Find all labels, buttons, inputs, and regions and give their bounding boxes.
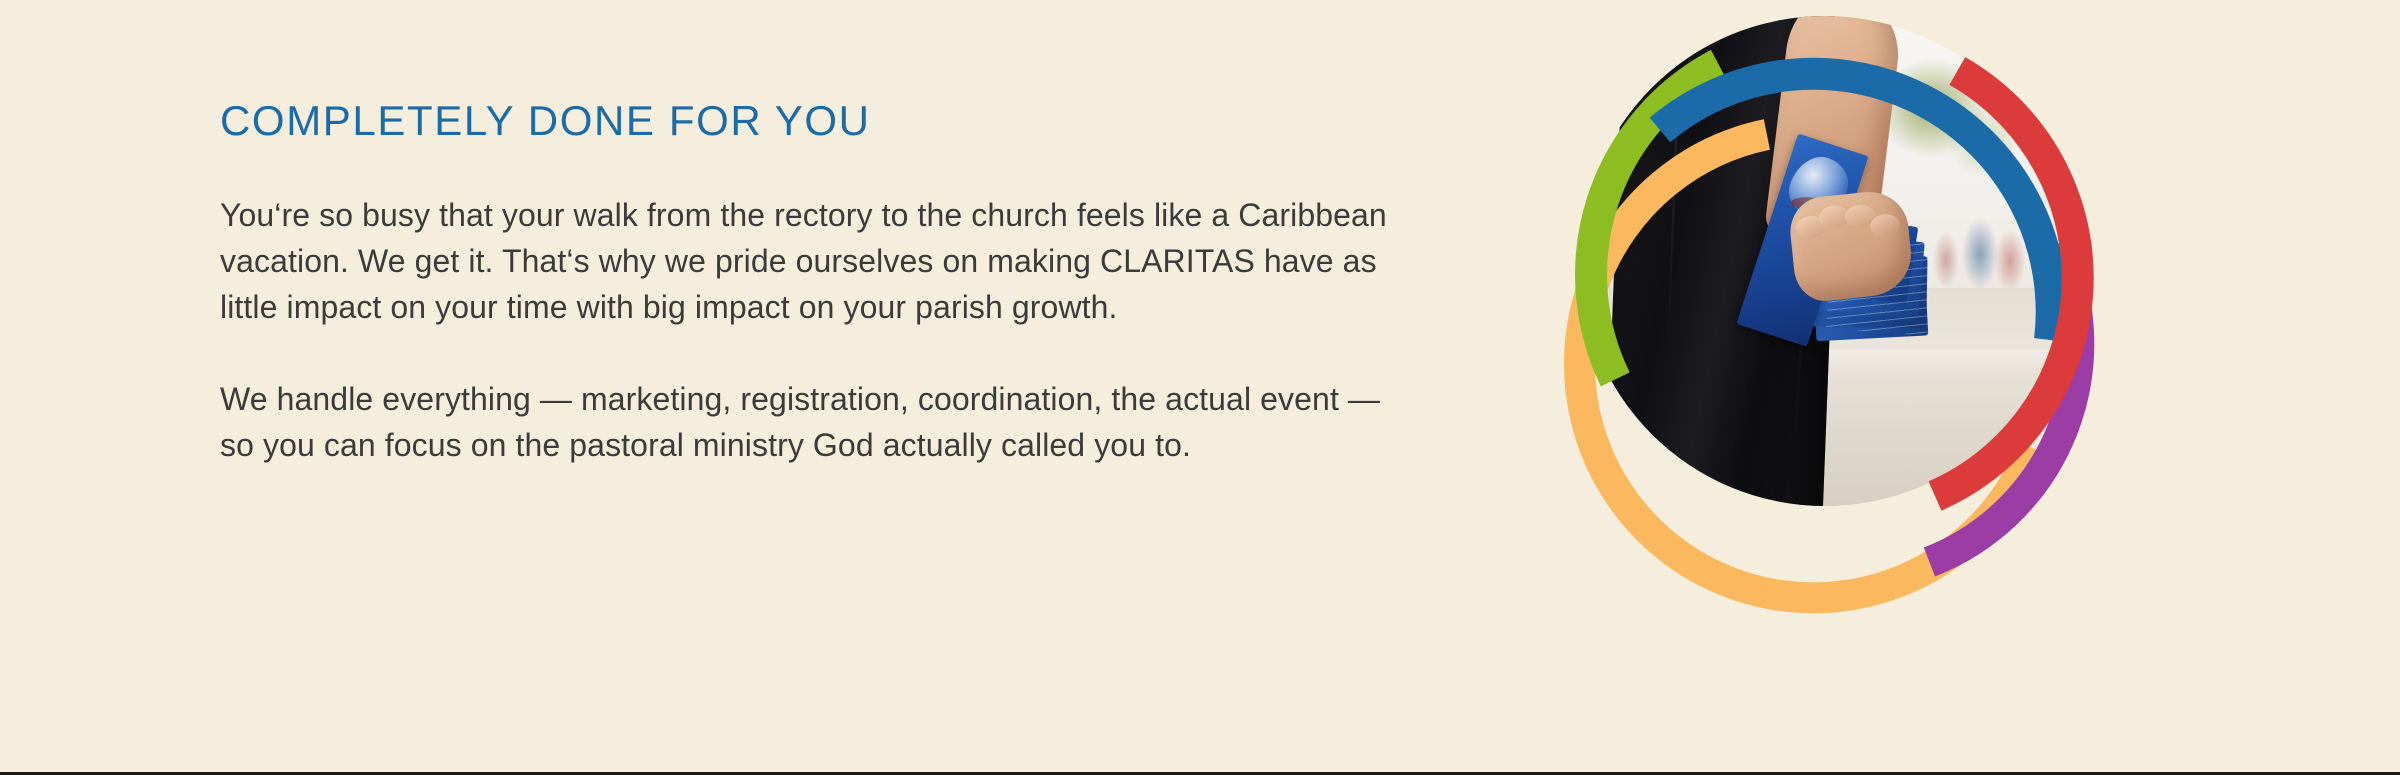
circular-photo-media bbox=[1505, 0, 2145, 668]
body-copy: You‘re so busy that your walk from the r… bbox=[220, 192, 1400, 468]
done-for-you-section: COMPLETELY DONE FOR YOU You‘re so busy t… bbox=[0, 0, 2400, 775]
content-column: COMPLETELY DONE FOR YOU You‘re so busy t… bbox=[220, 96, 1400, 468]
paragraph-1: You‘re so busy that your walk from the r… bbox=[220, 192, 1400, 330]
page-title: COMPLETELY DONE FOR YOU bbox=[220, 96, 1400, 146]
photo-disc bbox=[1580, 16, 2070, 506]
photo-background bbox=[1580, 16, 2070, 506]
paragraph-2: We handle everything — marketing, regist… bbox=[220, 376, 1400, 468]
